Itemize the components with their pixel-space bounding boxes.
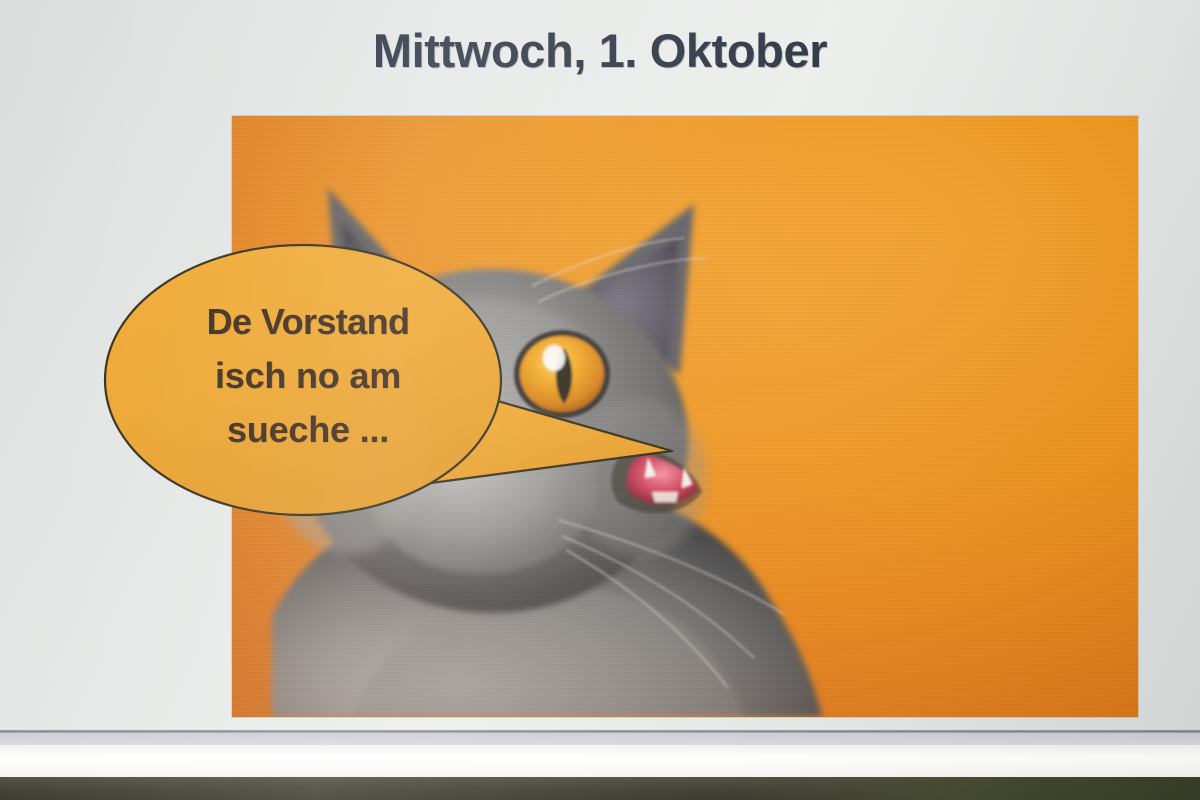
slide-title: Mittwoch, 1. Oktober (0, 23, 1200, 78)
screen-frame-band (0, 733, 1200, 745)
speech-bubble-text: De Vorstand isch no am sueche ... (112, 295, 504, 457)
speech-line-3: sueche ... (112, 403, 504, 457)
projection-screen: Mittwoch, 1. Oktober (0, 0, 1200, 800)
wall-below-screen (0, 777, 1200, 800)
wall-green-tint (730, 777, 1200, 800)
screen-white-strip (0, 745, 1200, 777)
speech-line-2: isch no am (112, 349, 504, 403)
speech-line-1: De Vorstand (112, 295, 504, 349)
speech-bubble: De Vorstand isch no am sueche ... (100, 243, 680, 528)
